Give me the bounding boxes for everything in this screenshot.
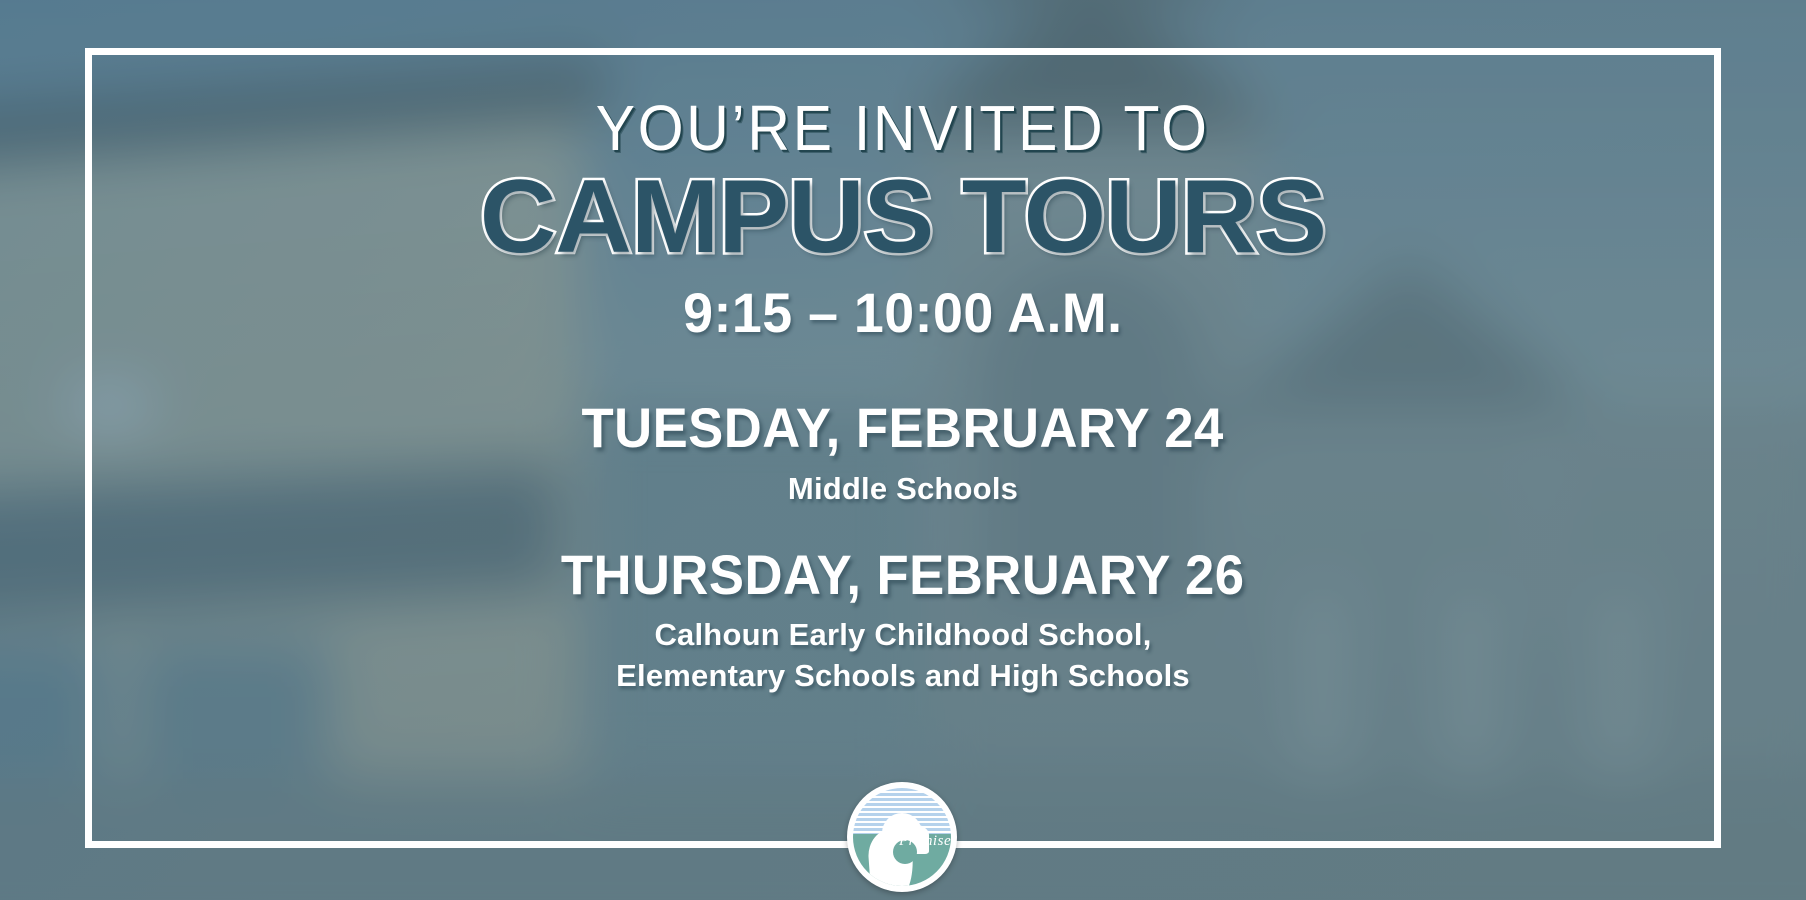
logo-circle-badge: THE Premise bbox=[847, 782, 957, 892]
page-title: CAMPUS TOURS bbox=[480, 164, 1326, 270]
eyebrow-text: YOU’RE INVITED TO bbox=[596, 96, 1210, 160]
event-date-1: TUESDAY, FEBRUARY 24 bbox=[582, 397, 1224, 459]
event-schools-1: Middle Schools bbox=[788, 469, 1018, 510]
logo-wordmark: Premise bbox=[899, 834, 951, 849]
event-time: 9:15 – 10:00 A.M. bbox=[683, 280, 1122, 345]
event-date-2: THURSDAY, FEBRUARY 26 bbox=[561, 544, 1245, 606]
event-schools-2-line-1: Calhoun Early Childhood School, bbox=[654, 615, 1151, 656]
logo-artwork: THE Premise bbox=[853, 788, 951, 886]
campus-tours-poster: YOU’RE INVITED TO CAMPUS TOURS 9:15 – 10… bbox=[0, 0, 1806, 900]
district-logo: THE Premise bbox=[847, 782, 957, 892]
poster-content: YOU’RE INVITED TO CAMPUS TOURS 9:15 – 10… bbox=[0, 0, 1806, 900]
event-schools-2-line-2: Elementary Schools and High Schools bbox=[616, 656, 1190, 697]
